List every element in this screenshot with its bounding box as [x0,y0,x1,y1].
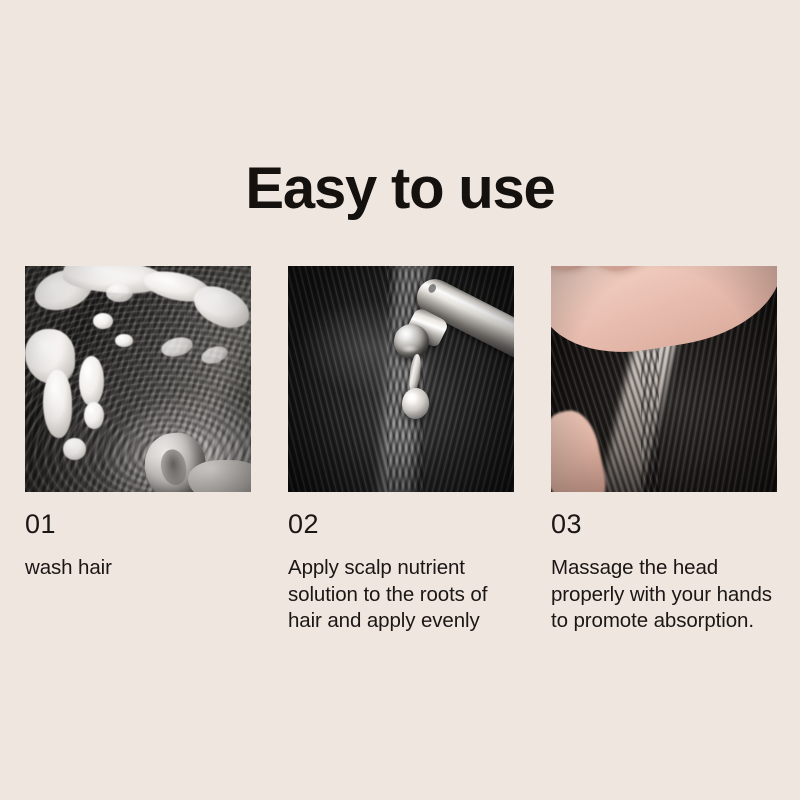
step-number: 01 [25,509,251,539]
photo-vignette [25,266,251,492]
photo-massage-scalp [551,266,777,492]
page-title: Easy to use [0,158,800,220]
step-card-01: 01 wash hair [25,266,251,635]
step-description: wash hair [25,555,251,582]
step-number: 02 [288,509,514,539]
photo-apply-serum [288,266,514,492]
step-card-02: 02 Apply scalp nutrient solution to the … [288,266,514,635]
step-description: Apply scalp nutrient solution to the roo… [288,555,514,635]
promo-page: Easy to use [0,0,800,800]
photo-vignette [288,266,514,492]
photo-wash-hair [25,266,251,492]
steps-row: 01 wash hair 02 Apply scalp nutrient sol… [25,266,777,635]
step-card-03: 03 Massage the head properly with your h… [551,266,777,635]
step-number: 03 [551,509,777,539]
photo-vignette [551,266,777,492]
step-description: Massage the head properly with your hand… [551,555,777,635]
